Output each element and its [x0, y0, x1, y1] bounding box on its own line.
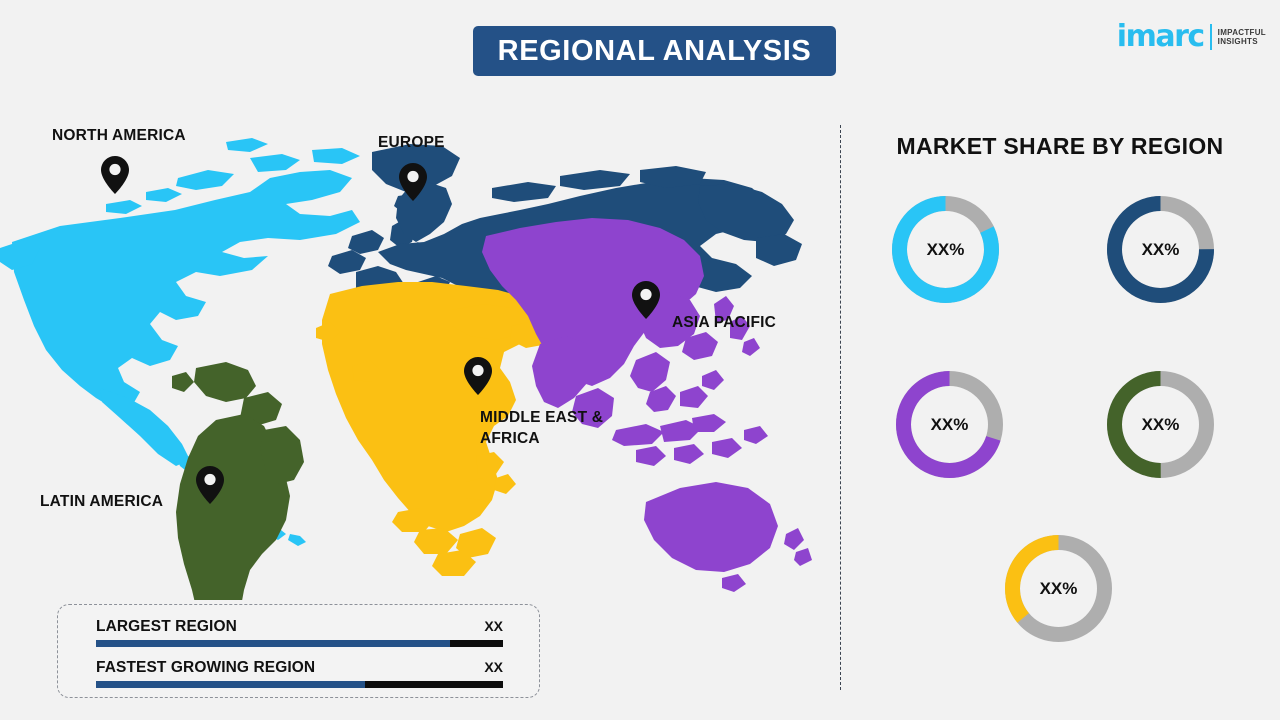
donut-value-latin-america: XX%	[1103, 367, 1218, 482]
map-label-north-america: NORTH AMERICA	[52, 126, 186, 147]
donut-value-asia-pacific: XX%	[892, 367, 1007, 482]
legend-progress-fill-fastest-growing-region	[96, 681, 365, 688]
legend-row-header: FASTEST GROWING REGION XX	[96, 659, 503, 677]
donut-value-north-america: XX%	[888, 192, 1003, 307]
legend-progress-track-largest-region	[96, 640, 503, 647]
logo-divider-rule	[1210, 24, 1212, 50]
legend-label-fastest-growing-region: FASTEST GROWING REGION	[96, 659, 315, 677]
brand-logo: imarc IMPACTFUL INSIGHTS	[1117, 22, 1266, 52]
logo-tagline-line1: IMPACTFUL	[1218, 28, 1266, 37]
map-label-asia-pacific: ASIA PACIFIC	[672, 313, 776, 334]
page-title: REGIONAL ANALYSIS	[498, 35, 812, 68]
legend-value-fastest-growing-region: XX	[484, 659, 503, 675]
logo-tagline-line2: INSIGHTS	[1218, 37, 1266, 46]
legend-progress-fill-largest-region	[96, 640, 450, 647]
map-pin-latin-america[interactable]	[196, 466, 224, 509]
panel-divider	[840, 125, 841, 690]
map-pin-asia-pacific[interactable]	[632, 281, 660, 324]
donut-europe: XX%	[1103, 192, 1218, 307]
legend-value-largest-region: XX	[484, 618, 503, 634]
panel-title-market-share: MARKET SHARE BY REGION	[840, 133, 1280, 160]
legend-progress-track-fastest-growing-region	[96, 681, 503, 688]
donut-north-america: XX%	[888, 192, 1003, 307]
map-region-latin-america	[172, 362, 304, 600]
legend-label-largest-region: LARGEST REGION	[96, 618, 237, 636]
logo-wordmark: imarc	[1117, 22, 1204, 52]
legend-row-largest-region: LARGEST REGION XX	[96, 618, 503, 659]
page-title-banner: REGIONAL ANALYSIS	[473, 26, 836, 76]
logo-tagline: IMPACTFUL INSIGHTS	[1218, 28, 1266, 46]
legend-row-fastest-growing-region: FASTEST GROWING REGION XX	[96, 659, 503, 700]
donut-asia-pacific: XX%	[892, 367, 1007, 482]
donut-latin-america: XX%	[1103, 367, 1218, 482]
map-label-europe: EUROPE	[378, 133, 445, 154]
donut-value-europe: XX%	[1103, 192, 1218, 307]
map-pin-europe[interactable]	[399, 163, 427, 206]
map-label-latin-america: LATIN AMERICA	[40, 492, 163, 513]
map-label-middle-east-africa: MIDDLE EAST & AFRICA	[480, 408, 603, 450]
legend-row-header: LARGEST REGION XX	[96, 618, 503, 636]
map-pin-middle-east-africa[interactable]	[464, 357, 492, 400]
infographic-canvas: REGIONAL ANALYSIS imarc IMPACTFUL INSIGH…	[0, 0, 1280, 720]
map-pin-north-america[interactable]	[101, 156, 129, 199]
donut-value-middle-east-africa: XX%	[1001, 531, 1116, 646]
legend-box: LARGEST REGION XX FASTEST GROWING REGION…	[57, 604, 540, 698]
donut-middle-east-africa: XX%	[1001, 531, 1116, 646]
map-region-asia-pacific	[482, 218, 812, 592]
